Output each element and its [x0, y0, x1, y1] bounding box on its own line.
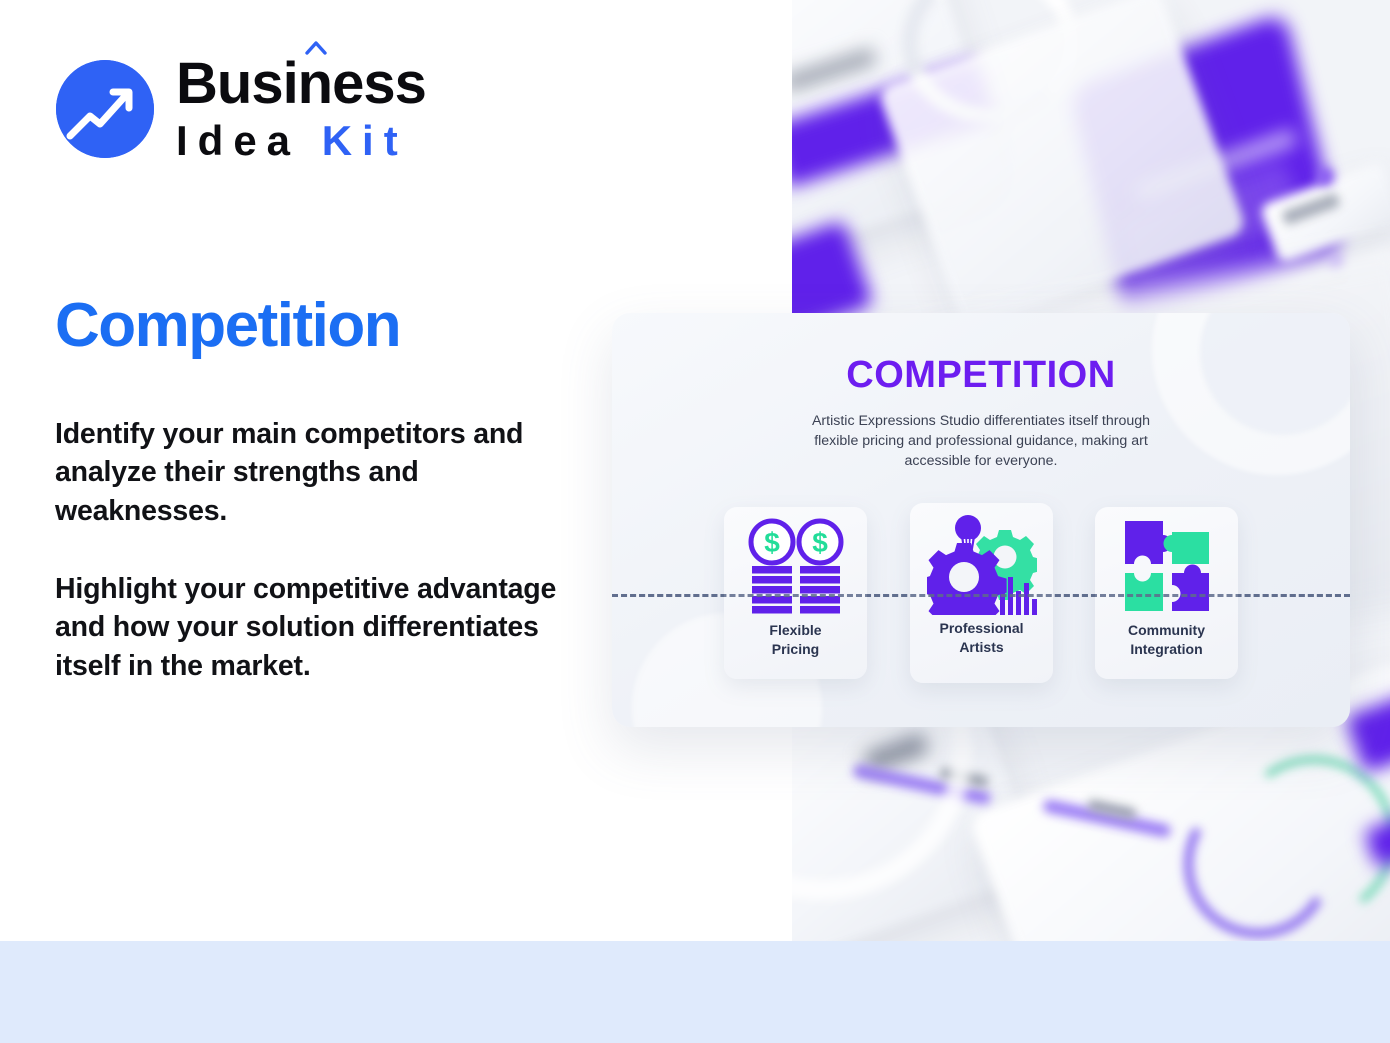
feature-card-professional-artists[interactable]: Professional Artists: [910, 503, 1053, 683]
feature-card-row: $ $: [724, 503, 1244, 683]
circumflex-accent-icon: [305, 41, 327, 55]
gears-lightbulb-barchart-icon: [927, 511, 1037, 617]
brand-name-line1: Business: [176, 55, 426, 113]
puzzle-pieces-icon: [1117, 513, 1217, 619]
feature-label: Flexible Pricing: [769, 621, 821, 658]
brand-wordmark: Business Idea Kit: [176, 55, 426, 162]
feature-label-line1: Professional: [939, 620, 1023, 636]
feature-label: Community Integration: [1128, 621, 1205, 658]
body-paragraph-1: Identify your main competitors and analy…: [55, 415, 575, 530]
feature-label-line1: Flexible: [769, 622, 821, 638]
footer-bar: [0, 941, 1390, 1043]
coin-stacks-dollar-icon: $ $: [744, 513, 848, 619]
feature-label-line2: Artists: [959, 639, 1003, 655]
brand-logo: Business Idea Kit: [56, 55, 426, 162]
competition-slide-card: COMPETITION Artistic Expressions Studio …: [612, 313, 1350, 727]
brand-name-text: Business: [176, 51, 426, 116]
feature-label: Professional Artists: [939, 619, 1023, 656]
feature-label-line2: Integration: [1130, 641, 1202, 657]
growth-chart-circle-icon: [56, 60, 154, 158]
feature-label-line2: Pricing: [772, 641, 819, 657]
bg-dot-purple-1: [1316, 168, 1334, 186]
feature-card-flexible-pricing[interactable]: $ $: [724, 507, 867, 679]
body-copy: Identify your main competitors and analy…: [55, 415, 575, 685]
page-title: Competition: [55, 293, 400, 358]
slide-subtitle: Artistic Expressions Studio differentiat…: [791, 411, 1171, 471]
svg-text:$: $: [812, 527, 828, 558]
slide-title: COMPETITION: [612, 354, 1350, 397]
dashed-connector-overlay: [612, 594, 1350, 597]
feature-label-line1: Community: [1128, 622, 1205, 638]
body-paragraph-2: Highlight your competitive advantage and…: [55, 570, 575, 685]
brand-kit-text: Kit: [322, 117, 408, 164]
brand-name-line2: Idea Kit: [176, 120, 426, 162]
svg-text:$: $: [764, 527, 780, 558]
feature-card-community-integration[interactable]: Community Integration: [1095, 507, 1238, 679]
brand-idea-text: Idea: [176, 117, 300, 164]
